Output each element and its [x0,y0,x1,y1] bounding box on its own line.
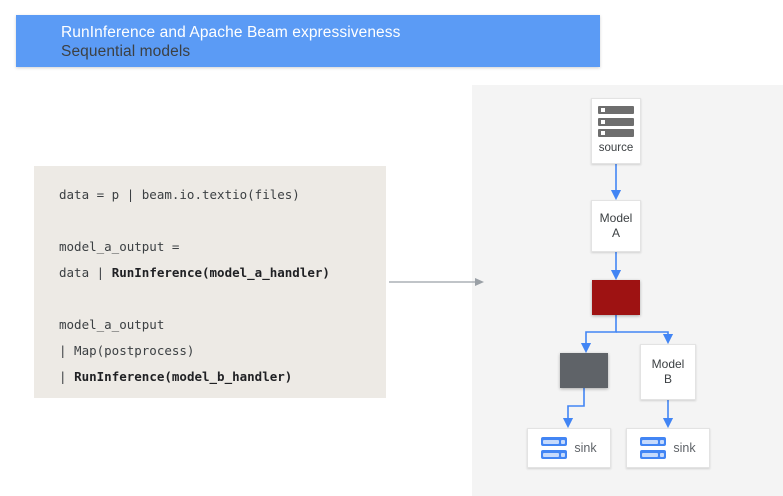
sink-1-label: sink [574,441,596,456]
code-line: data = p | beam.io.textio(files) [59,182,386,208]
diagram-node-red-block[interactable] [592,280,640,315]
diagram-node-sink-2[interactable]: sink [626,428,710,468]
code-block: data = p | beam.io.textio(files) model_a… [34,166,386,398]
model-b-label-line2: B [664,372,672,387]
model-b-label-line1: Model [652,357,685,372]
title-banner: RunInference and Apache Beam expressiven… [16,15,600,67]
model-a-label-line2: A [612,226,620,241]
code-line: | Map(postprocess) [59,338,386,364]
model-a-label-line1: Model [600,211,633,226]
diagram-node-model-a[interactable]: Model A [591,200,641,252]
source-label: source [599,141,634,156]
diagram-node-model-b[interactable]: Model B [640,344,696,400]
server-stack-icon [598,106,634,137]
banner-title: RunInference and Apache Beam expressiven… [61,23,600,42]
diagram-node-source[interactable]: source [591,98,641,164]
diagram-node-gray-block[interactable] [560,353,608,388]
arrow-right-icon [389,272,484,292]
code-line: data | RunInference(model_a_handler) [59,260,386,286]
code-blank-line [59,286,386,312]
diagram-node-sink-1[interactable]: sink [527,428,611,468]
banner-subtitle: Sequential models [61,42,600,61]
database-sink-icon [640,437,666,459]
code-line: model_a_output [59,312,386,338]
code-line: model_a_output = [59,234,386,260]
code-blank-line [59,208,386,234]
code-line: | RunInference(model_b_handler) [59,364,386,390]
sink-2-label: sink [673,441,695,456]
database-sink-icon [541,437,567,459]
